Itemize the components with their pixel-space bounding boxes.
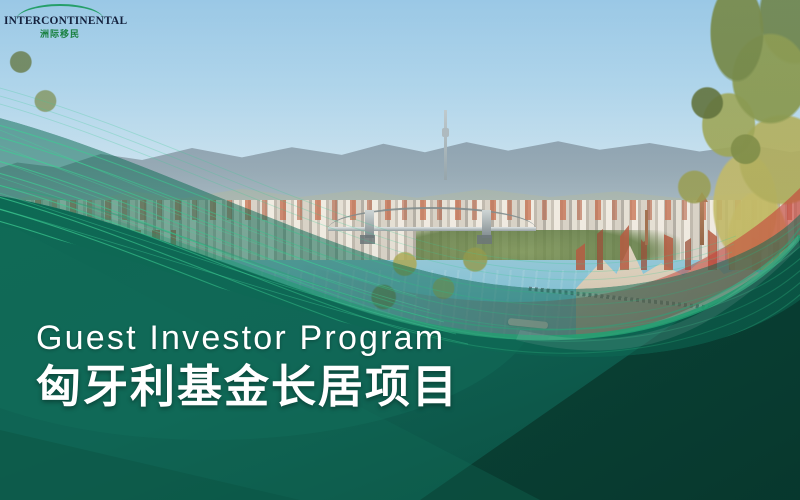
logo-wordmark: INTERCONTINENTAL [4, 15, 116, 27]
brand-logo[interactable]: INTERCONTINENTAL 洲际移民 [4, 4, 116, 40]
promo-banner: INTERCONTINENTAL 洲际移民 Guest Investor Pro… [0, 0, 800, 500]
logo-chinese-name: 洲际移民 [4, 27, 116, 40]
wave-graphic [0, 0, 800, 500]
green-wave-overlay [0, 0, 800, 500]
headline-english: Guest Investor Program [36, 318, 676, 358]
headline-block: Guest Investor Program 匈牙利基金长居项目 [36, 318, 676, 413]
headline-chinese: 匈牙利基金长居项目 [36, 362, 676, 412]
